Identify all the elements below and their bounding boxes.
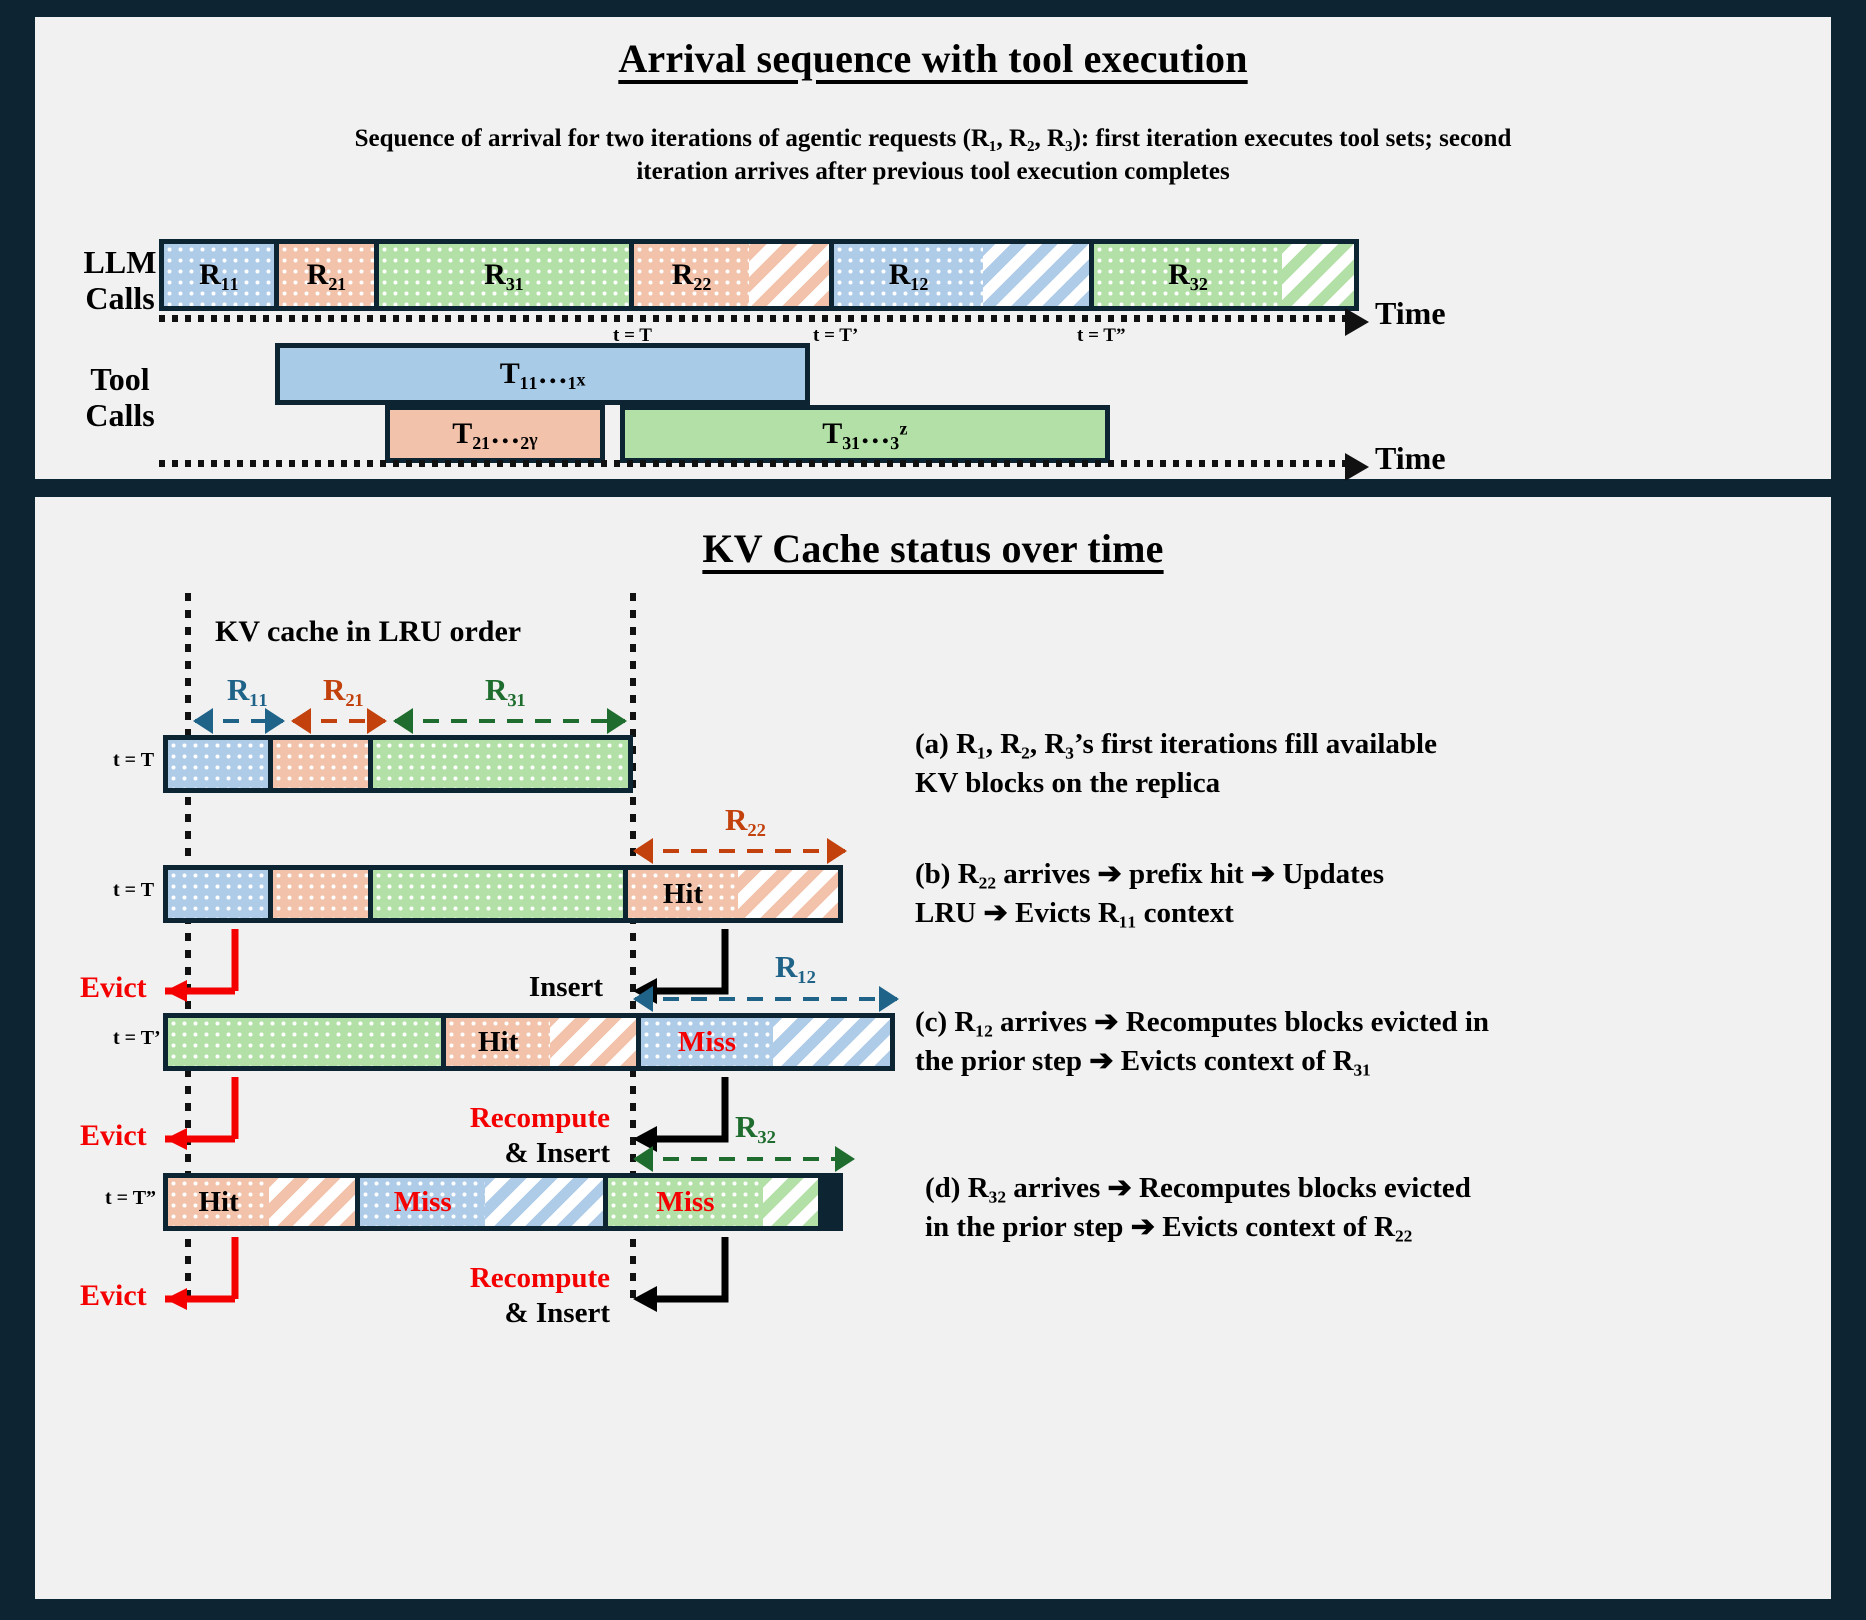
kv-row-d-hit-label: Hit (199, 1186, 239, 1219)
row-a-time-label: t = T (113, 749, 154, 772)
recompute-c-line2: & Insert (375, 1136, 610, 1171)
kv-row-c-block-r22[interactable]: Hit (446, 1018, 641, 1066)
note-c-line2: the prior step ➔ Evicts context of R₃₁ (915, 1042, 1635, 1081)
recompute-c-line1: Recompute (375, 1101, 610, 1136)
note-b-line2: LRU ➔ Evicts R₁₁ context (915, 894, 1635, 933)
note-d-line1: (d) R₃₂ arrives ➔ Recomputes blocks evic… (925, 1169, 1645, 1208)
kv-row-d-miss-green-label: Miss (657, 1186, 715, 1219)
measure-arrow-r32 (635, 1157, 853, 1161)
arrival-sequence-panel: Arrival sequence with tool execution Seq… (30, 12, 1836, 484)
subtitle-line-2: iteration arrives after previous tool ex… (208, 155, 1658, 188)
kv-row-d-block-r12[interactable]: Miss (360, 1178, 608, 1226)
kv-row-d-hatch-peach (269, 1178, 355, 1226)
kv-row-b-block-r31[interactable] (373, 870, 628, 918)
tool-bar-t2[interactable]: T₂₁…₂ᵧ (385, 405, 605, 463)
panel-title-kv-cache: KV Cache status over time (35, 525, 1831, 572)
tool-label-line1: Tool (55, 362, 185, 398)
tool-time-axis (159, 460, 1349, 467)
time-mark-Tdoubleprime: t = T” (1077, 325, 1125, 347)
llm-segment-r32-label: R₃₂ (1168, 258, 1208, 292)
row-c-time-label: t = T’ (113, 1027, 161, 1050)
tool-bar-t3[interactable]: T₃₁…₃ᶻ (620, 405, 1110, 463)
llm-segment-r22-label: R₂₂ (672, 258, 712, 292)
insert-label-b: Insert (443, 970, 603, 1005)
kv-row-c: Hit Miss (163, 1013, 895, 1071)
llm-segment-r12-label: R₁₂ (889, 258, 929, 292)
kv-row-a-block-r31[interactable] (373, 740, 628, 788)
kv-row-a-block-r11[interactable] (168, 740, 273, 788)
kv-row-c-hatch-blue (773, 1018, 890, 1066)
tool-bar-t1[interactable]: T₁₁…₁ₓ (275, 343, 810, 405)
tool-time-arrowhead (1345, 453, 1369, 481)
tool-label-line2: Calls (55, 398, 185, 434)
llm-segment-r31[interactable]: R₃₁ (379, 244, 634, 306)
subtitle-line-1: Sequence of arrival for two iterations o… (208, 122, 1658, 155)
llm-time-axis (159, 315, 1349, 322)
measure-label-r12: R₁₂ (775, 949, 816, 985)
measure-label-r32: R₃₂ (735, 1109, 776, 1145)
kv-cache-panel: KV Cache status over time KV cache in LR… (30, 492, 1836, 1604)
kv-row-c-hit-label: Hit (478, 1026, 518, 1059)
tool-bar-t3-label: T₃₁…₃ᶻ (822, 417, 907, 451)
llm-segment-r21[interactable]: R₂₁ (279, 244, 379, 306)
recompute-d-line1: Recompute (375, 1261, 610, 1296)
lru-caption: KV cache in LRU order (215, 615, 521, 649)
note-c: (c) R₁₂ arrives ➔ Recomputes blocks evic… (915, 1003, 1635, 1080)
panel-subtitle-arrival: Sequence of arrival for two iterations o… (208, 122, 1658, 188)
tool-bar-t1-label: T₁₁…₁ₓ (500, 357, 586, 391)
llm-segment-r12[interactable]: R₁₂ (834, 244, 1094, 306)
note-a-line2: KV blocks on the replica (915, 764, 1635, 803)
llm-segment-r21-label: R₂₁ (307, 258, 347, 292)
kv-row-d-block-r32[interactable]: Miss (608, 1178, 818, 1226)
kv-row-d-block-r22[interactable]: Hit (168, 1178, 360, 1226)
measure-label-r21: R₂₁ (323, 672, 364, 708)
llm-calls-bar: R₁₁ R₂₁ R₃₁ R₂₂ R₁₂ R₃₂ (159, 239, 1359, 311)
row-d-time-label: t = T” (105, 1187, 156, 1210)
measure-arrow-r22 (635, 849, 845, 853)
llm-time-axis-label: Time (1375, 295, 1446, 332)
llm-segment-r32-hatch (1282, 244, 1354, 306)
measure-arrow-r11 (195, 719, 283, 723)
recompute-label-c: Recompute & Insert (375, 1101, 610, 1171)
kv-row-d-hatch-blue (485, 1178, 603, 1226)
recompute-label-d: Recompute & Insert (375, 1261, 610, 1331)
evict-label-b: Evict (80, 971, 147, 1005)
note-c-line1: (c) R₁₂ arrives ➔ Recomputes blocks evic… (915, 1003, 1635, 1042)
kv-row-c-miss-label: Miss (678, 1026, 736, 1059)
kv-row-c-block-r31[interactable] (168, 1018, 446, 1066)
kv-row-b-block-r11[interactable] (168, 870, 273, 918)
note-a-line1: (a) R₁, R₂, R₃’s first iterations fill a… (915, 725, 1635, 764)
row-b-time-label: t = T (113, 879, 154, 902)
measure-label-r22: R₂₂ (725, 802, 766, 838)
kv-row-c-block-r12[interactable]: Miss (641, 1018, 890, 1066)
recompute-d-line2: & Insert (375, 1296, 610, 1331)
note-b: (b) R₂₂ arrives ➔ prefix hit ➔ Updates L… (915, 855, 1635, 932)
kv-row-d-hatch-green (763, 1178, 818, 1226)
measure-arrow-r21 (293, 719, 385, 723)
kv-row-a (163, 735, 633, 793)
note-d-line2: in the prior step ➔ Evicts context of R₂… (925, 1208, 1645, 1247)
kv-row-b: Hit (163, 865, 843, 923)
time-mark-Tprime: t = T’ (813, 325, 858, 347)
llm-segment-r11[interactable]: R₁₁ (164, 244, 279, 306)
llm-segment-r22[interactable]: R₂₂ (634, 244, 834, 306)
kv-row-c-hatch-peach (550, 1018, 636, 1066)
llm-segment-r22-hatch (749, 244, 829, 306)
kv-row-b-hatch (738, 870, 838, 918)
note-b-line1: (b) R₂₂ arrives ➔ prefix hit ➔ Updates (915, 855, 1635, 894)
llm-time-arrowhead (1345, 308, 1369, 336)
measure-arrow-r31 (395, 719, 625, 723)
note-d: (d) R₃₂ arrives ➔ Recomputes blocks evic… (925, 1169, 1645, 1246)
kv-row-d: Hit Miss Miss (163, 1173, 843, 1231)
measure-arrow-r12 (635, 997, 897, 1001)
kv-row-b-block-r22[interactable]: Hit (628, 870, 838, 918)
llm-segment-r31-label: R₃₁ (484, 258, 524, 292)
kv-row-b-block-r21[interactable] (273, 870, 373, 918)
evict-label-c: Evict (80, 1119, 147, 1153)
llm-segment-r12-hatch (983, 244, 1089, 306)
tool-time-axis-label: Time (1375, 440, 1446, 477)
measure-label-r11: R₁₁ (227, 672, 268, 708)
tool-bar-t2-label: T₂₁…₂ᵧ (452, 417, 537, 451)
llm-segment-r11-label: R₁₁ (199, 258, 239, 292)
note-a: (a) R₁, R₂, R₃’s first iterations fill a… (915, 725, 1635, 802)
measure-label-r31: R₃₁ (485, 672, 526, 708)
llm-segment-r32[interactable]: R₃₂ (1094, 244, 1354, 306)
panel-title-arrival: Arrival sequence with tool execution (35, 35, 1831, 82)
tool-calls-row-label: Tool Calls (55, 362, 185, 434)
kv-row-d-miss-blue-label: Miss (394, 1186, 452, 1219)
kv-row-b-hit-label: Hit (663, 878, 703, 911)
kv-row-a-block-r21[interactable] (273, 740, 373, 788)
evict-label-d: Evict (80, 1279, 147, 1313)
